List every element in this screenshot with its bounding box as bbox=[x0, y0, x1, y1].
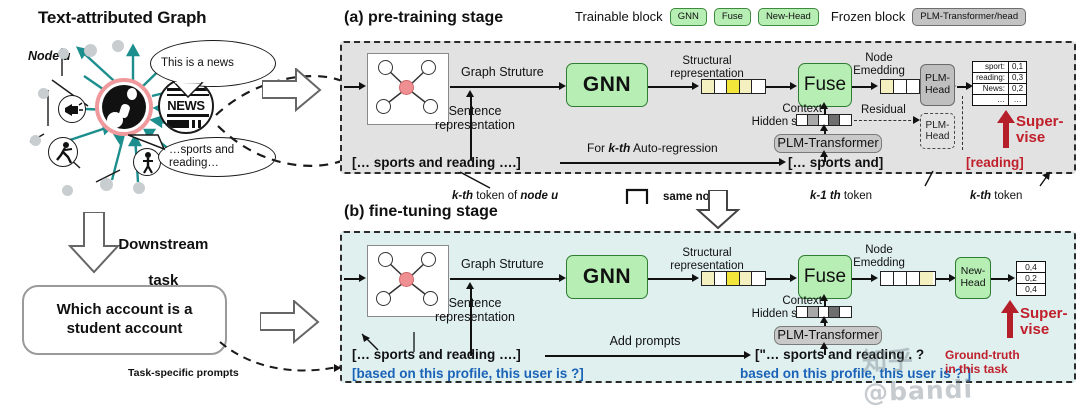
supervise-arrow-a bbox=[996, 110, 1016, 153]
downstream-line1: Downstream bbox=[118, 236, 208, 253]
residual-label: Residual bbox=[861, 104, 931, 117]
plm-transformer-pretrain: PLM-Transformer bbox=[774, 134, 882, 153]
k-minus-1-token-annotation: k-1 th token bbox=[810, 190, 872, 202]
question-line2: student account bbox=[67, 320, 183, 337]
arrow-head bbox=[820, 294, 828, 301]
arrow-head bbox=[359, 82, 366, 90]
combined-sequence-line1: ["… sports and reading . ? bbox=[755, 347, 924, 362]
output-value: 0,2 bbox=[1017, 273, 1045, 284]
structural-rep-label-b: Structural representation bbox=[648, 247, 766, 273]
arrow-head bbox=[871, 82, 878, 90]
pred-token: News: bbox=[973, 84, 1009, 95]
supervise-label-a: Super- vise bbox=[1016, 114, 1064, 146]
arrow-head bbox=[559, 82, 566, 90]
trainable-block-label: Trainable block bbox=[575, 9, 663, 24]
news-bubble-tail bbox=[172, 82, 206, 103]
frozen-block-label: Frozen block bbox=[831, 9, 905, 24]
arrow-head bbox=[820, 124, 828, 131]
arrow-emb-to-newhead bbox=[936, 278, 950, 280]
left-to-finetune-arrow bbox=[260, 300, 320, 344]
arrow-fuse-to-emb-a bbox=[852, 86, 872, 88]
arrow-head bbox=[779, 158, 786, 166]
stage-b-title: (b) fine-tuning stage bbox=[344, 203, 498, 221]
arrow-graph-to-gnn bbox=[450, 86, 560, 88]
plm-head-line1: PLM- bbox=[925, 72, 950, 84]
legend-chip-gnn: GNN bbox=[670, 8, 707, 26]
supervise-line2-b: vise bbox=[1020, 321, 1049, 338]
combined-sequence-line2: based on this profile, this user is ? ] bbox=[740, 366, 971, 381]
downstream-task-label: Downstream task bbox=[110, 218, 208, 290]
graph-node-dot bbox=[112, 40, 124, 52]
ground-truth-line2: in this task bbox=[945, 362, 1008, 376]
sentence-rep-line1: Sentence bbox=[449, 104, 502, 118]
arrow-gnn-to-vec-a bbox=[648, 86, 693, 88]
structural-rep-line1-b: Structural bbox=[682, 247, 731, 259]
kth-post: token bbox=[991, 190, 1022, 202]
arrow-head bbox=[871, 274, 878, 282]
arrow-head bbox=[466, 282, 474, 289]
arrow-head bbox=[820, 316, 828, 323]
residual-dashed-line bbox=[854, 120, 916, 121]
node-emb-line1-b: Node bbox=[865, 244, 893, 256]
arrow-head bbox=[744, 351, 751, 359]
arrow-vec-to-fuse-b bbox=[766, 278, 791, 280]
graph-node-dot bbox=[100, 178, 113, 191]
graph-node-dot bbox=[30, 135, 41, 146]
arrow-add-prompts bbox=[545, 355, 745, 357]
arrow-head bbox=[559, 274, 566, 282]
arrow-head bbox=[692, 82, 699, 90]
node-embedding-label-a: Node Emedding bbox=[840, 52, 918, 78]
legend-chip-new-head: New-Head bbox=[758, 8, 819, 26]
supervise-arrow-b bbox=[1000, 300, 1020, 343]
downstream-question-box: Which account is a student account bbox=[22, 285, 227, 355]
structural-rep-vector-b bbox=[701, 271, 766, 286]
plm-transformer-finetune: PLM-Transformer bbox=[774, 326, 882, 345]
sentence-rep-line2: representation bbox=[435, 118, 515, 132]
sports-bubble-tail bbox=[128, 133, 166, 160]
autoregression-pre: For bbox=[587, 141, 608, 155]
sentence-rep-label-b: Sentence representation bbox=[418, 296, 532, 325]
table-row: … … bbox=[973, 95, 1027, 106]
center-node-u bbox=[95, 78, 153, 136]
pred-score: 0,2 bbox=[1009, 84, 1027, 95]
prediction-table: sport: 0,1 reading: 0,3 News: 0,2 … … bbox=[972, 61, 1027, 106]
arrow-head bbox=[1008, 274, 1015, 282]
question-line1: Which account is a bbox=[57, 301, 193, 318]
new-head-line2: Head bbox=[960, 277, 985, 289]
structural-rep-label-a: Structural representation bbox=[648, 55, 766, 81]
plm-head-block-pretrain: PLM- Head bbox=[920, 64, 955, 106]
structural-rep-vector-a bbox=[701, 79, 766, 94]
arrow-into-graph-a bbox=[344, 86, 360, 88]
residual-dashed-vertical bbox=[962, 96, 963, 150]
arrow-graph-to-gnn-b bbox=[450, 278, 560, 280]
new-head-line1: New- bbox=[961, 265, 986, 277]
pred-token: … bbox=[973, 95, 1009, 106]
arrow-head bbox=[790, 82, 797, 90]
pred-token: reading: bbox=[973, 73, 1009, 84]
graph-node-dot bbox=[84, 44, 97, 57]
kth-token-mid: token of bbox=[473, 190, 520, 202]
same-node-bracket bbox=[625, 186, 661, 211]
gnn-block-finetune: GNN bbox=[566, 255, 648, 299]
arrow-head bbox=[466, 90, 474, 97]
plm-head-dashed-line1: PLM- bbox=[926, 120, 950, 131]
k-1-pre: k-1 th bbox=[810, 190, 841, 202]
structural-rep-line1: Structural bbox=[682, 55, 731, 67]
node-emb-line1: Node bbox=[865, 52, 893, 64]
arrow-vec-to-fuse-a bbox=[766, 86, 791, 88]
node-embedding-vector-b bbox=[880, 271, 936, 286]
output-value: 0,4 bbox=[1017, 284, 1045, 295]
kth-token-pre: k-th bbox=[452, 190, 473, 202]
arrow-newhead-to-out bbox=[991, 278, 1009, 280]
graph-node-dot bbox=[133, 182, 145, 194]
table-row: reading: 0,3 bbox=[973, 73, 1027, 84]
legend-chip-plm: PLM-Transformer/head bbox=[912, 8, 1026, 26]
plm-head-line2: Head bbox=[925, 84, 950, 96]
autoregression-post: Auto-regression bbox=[630, 141, 717, 155]
table-row: sport: 0,1 bbox=[973, 62, 1027, 73]
stage-a-title: (a) pre-training stage bbox=[344, 9, 503, 27]
k-1-post: token bbox=[841, 190, 872, 202]
kth-token-node-u-annotation: k-th token of node u bbox=[452, 190, 558, 202]
node-embedding-label-b: Node Emedding bbox=[840, 244, 918, 270]
left-to-pretrain-arrow bbox=[262, 68, 322, 112]
node-u-ref: node u bbox=[520, 190, 558, 202]
add-prompts-label: Add prompts bbox=[585, 334, 705, 348]
table-row: News: 0,2 bbox=[973, 84, 1027, 95]
prompt-pointer bbox=[340, 330, 540, 356]
plm-head-block-residual: PLM- Head bbox=[920, 113, 955, 149]
arrow-head bbox=[692, 274, 699, 282]
supervise-line2: vise bbox=[1016, 129, 1045, 146]
output-value: 0,4 bbox=[1017, 262, 1045, 273]
graph-node-dot bbox=[38, 88, 49, 99]
sentence-rep-label-a: Sentence representation bbox=[418, 104, 532, 133]
new-head-block: New- Head bbox=[955, 257, 991, 299]
sentence-rep-line2-b: representation bbox=[435, 310, 515, 324]
megaphone-node bbox=[58, 95, 86, 123]
pred-score: 0,3 bbox=[1009, 73, 1027, 84]
annotation-pointers bbox=[400, 168, 1060, 192]
node-emb-line2: Emedding bbox=[853, 65, 905, 77]
arrow-fuse-to-emb-b bbox=[852, 278, 872, 280]
stage-transition-arrow bbox=[695, 190, 741, 230]
arrow-head bbox=[820, 102, 828, 109]
arrow-head bbox=[359, 274, 366, 282]
ground-truth-label: Ground-truth in this task bbox=[945, 349, 1020, 377]
pred-score: 0,1 bbox=[1009, 62, 1027, 73]
plm-head-dashed-line2: Head bbox=[926, 131, 950, 142]
supervise-line1: Super- bbox=[1016, 113, 1064, 130]
arrow-head bbox=[334, 364, 341, 372]
legend: Trainable block GNN Fuse New-Head Frozen… bbox=[575, 8, 1026, 26]
graph-structure-label-b: Graph Struture bbox=[461, 257, 571, 271]
arrow-gnn-to-vec-b bbox=[648, 278, 693, 280]
arrow-autoregression bbox=[560, 162, 780, 164]
kth-token-annotation: k-th token bbox=[970, 190, 1022, 202]
prompt-sequence-b: [based on this profile, this user is ?] bbox=[352, 366, 584, 381]
graph-structure-label-a: Graph Struture bbox=[461, 65, 571, 79]
node-emb-line2-b: Emedding bbox=[853, 257, 905, 269]
arrow-into-graph-b bbox=[344, 278, 360, 280]
sentence-rep-line1-b: Sentence bbox=[449, 296, 502, 310]
person-running-node bbox=[48, 137, 78, 167]
pred-token: sport: bbox=[973, 62, 1009, 73]
supervise-label-b: Super- vise bbox=[1020, 306, 1068, 338]
graph-node-dot bbox=[62, 185, 73, 196]
supervise-line1-b: Super- bbox=[1020, 305, 1068, 322]
autoregression-label: For k-th Auto-regression bbox=[587, 142, 777, 156]
arrow-head bbox=[790, 274, 797, 282]
finetune-output-box: 0,4 0,2 0,4 bbox=[1016, 261, 1046, 296]
pred-score: … bbox=[1009, 95, 1027, 106]
ground-truth-line1: Ground-truth bbox=[945, 348, 1020, 362]
gnn-block-pretrain: GNN bbox=[566, 63, 648, 107]
page-title: Text-attributed Graph bbox=[38, 8, 206, 27]
kth-pre: k-th bbox=[970, 190, 991, 202]
graph-node-dot bbox=[58, 48, 69, 59]
autoregression-k: k-th bbox=[608, 141, 630, 155]
legend-chip-fuse: Fuse bbox=[714, 8, 751, 26]
